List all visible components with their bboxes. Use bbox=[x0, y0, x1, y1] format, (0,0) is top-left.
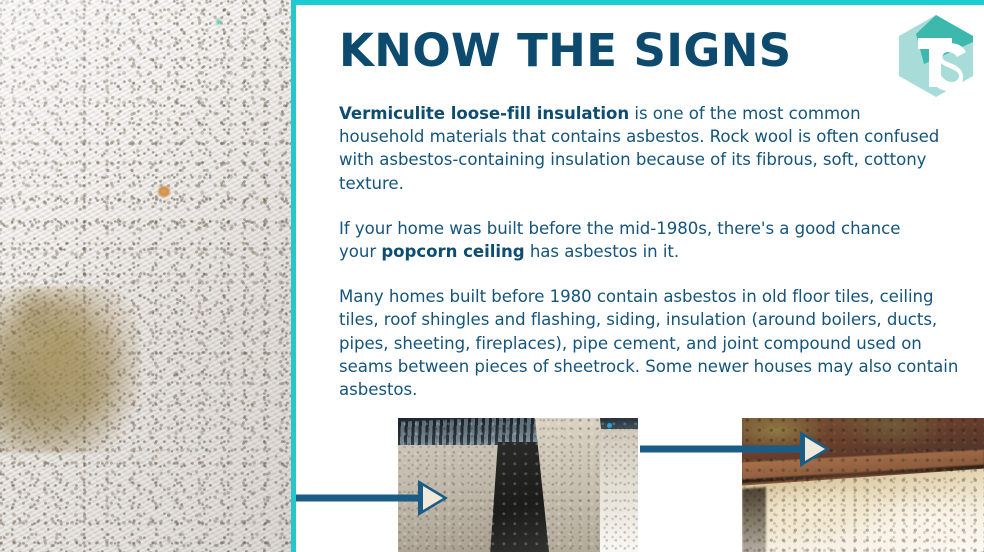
right-photo-left-shadow bbox=[742, 487, 766, 552]
connector-arrow-to-right-photo bbox=[640, 431, 836, 467]
paragraph-popcorn-ceiling: If your home was built before the mid-19… bbox=[339, 217, 925, 263]
paragraph-popcorn-after: has asbestos in it. bbox=[525, 242, 679, 261]
paragraph-older-homes: Many homes built before 1980 contain asb… bbox=[339, 285, 963, 401]
arrow-shaft bbox=[296, 495, 426, 502]
popcorn-ceiling-texture-photo bbox=[0, 0, 291, 552]
arrow-shaft bbox=[640, 446, 808, 453]
slide-know-the-signs: KNOW THE SIGNS Vermiculite loose-fill in… bbox=[0, 0, 984, 552]
arrow-head-inner bbox=[423, 486, 443, 510]
paragraph-popcorn-emphasis: popcorn ceiling bbox=[381, 242, 524, 261]
photo-shading-layer bbox=[0, 0, 291, 552]
content-column: KNOW THE SIGNS Vermiculite loose-fill in… bbox=[339, 0, 963, 401]
page-title: KNOW THE SIGNS bbox=[339, 28, 963, 73]
paragraph-vermiculite-lead: Vermiculite loose-fill insulation bbox=[339, 104, 629, 123]
paragraph-vermiculite: Vermiculite loose-fill insulation is one… bbox=[339, 102, 945, 195]
connector-arrow-to-middle-photo bbox=[296, 480, 452, 516]
arrow-head-inner bbox=[805, 437, 825, 461]
vertical-accent-rule bbox=[291, 0, 296, 552]
